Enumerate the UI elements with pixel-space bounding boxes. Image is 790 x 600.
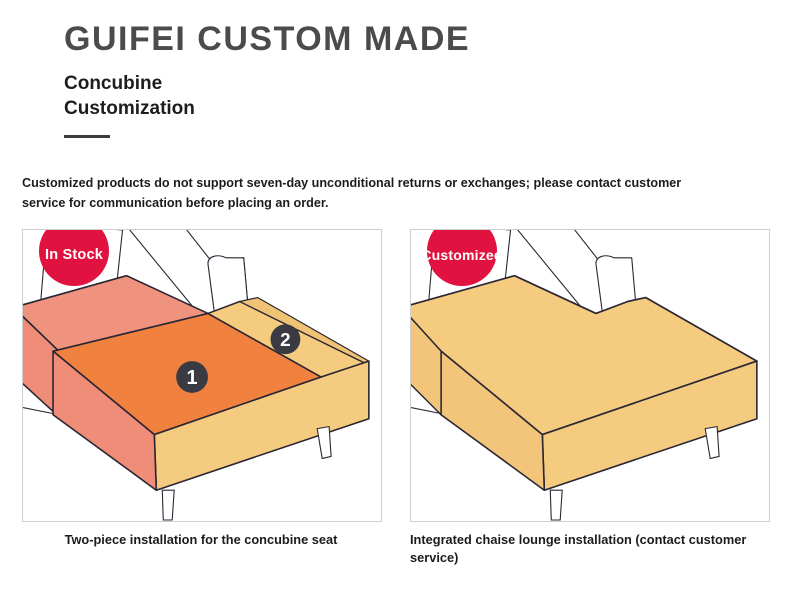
returns-notice: Customized products do not support seven… [22, 174, 722, 213]
panel-two-piece-image[interactable]: 1 2 In Stock [22, 229, 382, 522]
illustration-panels: 1 2 In Stock Two-piece installation for … [22, 229, 770, 567]
panel-two-piece-caption: Two-piece installation for the concubine… [22, 531, 380, 549]
header: GUIFEI CUSTOM MADE Concubine Customizati… [64, 20, 764, 138]
marker-two-label: 2 [280, 329, 291, 350]
marker-one-label: 1 [187, 367, 198, 389]
page-subtitle: Concubine Customization [64, 71, 324, 121]
page-subtitle-line2: Customization [64, 96, 324, 121]
page-subtitle-line1: Concubine [64, 71, 324, 96]
marker-one: 1 [176, 361, 208, 393]
stock-status-badge-label: In Stock [45, 247, 103, 263]
panel-integrated-image[interactable]: Customized [410, 229, 770, 522]
panel-two-piece: 1 2 In Stock Two-piece installation for … [22, 229, 382, 567]
panel-integrated: Customized Integrated chaise lounge inst… [410, 229, 770, 567]
page-title: GUIFEI CUSTOM MADE [64, 20, 764, 59]
page-root: GUIFEI CUSTOM MADE Concubine Customizati… [0, 0, 790, 600]
title-divider [64, 135, 110, 138]
marker-two: 2 [271, 324, 301, 354]
panel-integrated-caption: Integrated chaise lounge installation (c… [410, 531, 768, 567]
custom-status-badge-label: Customized [421, 247, 502, 263]
